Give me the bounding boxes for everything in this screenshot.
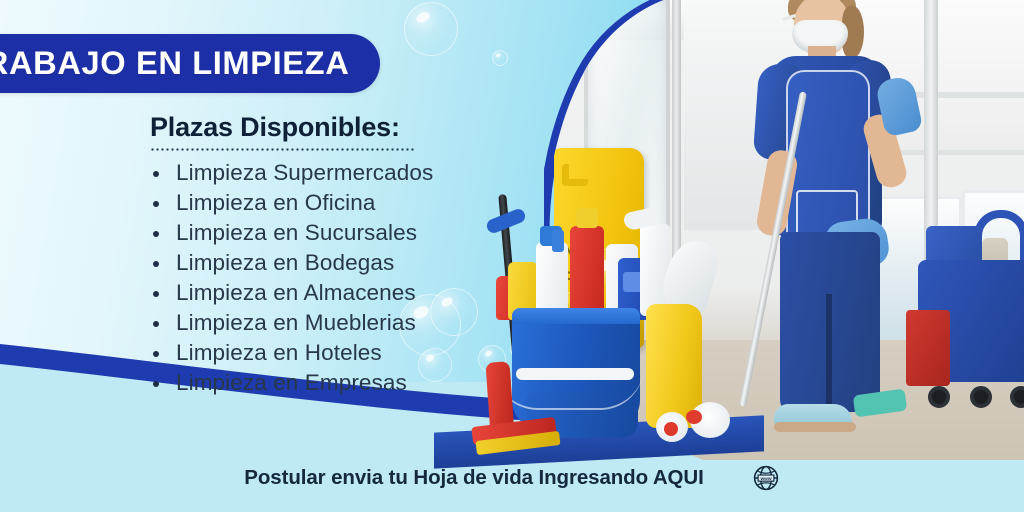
list-item: Limpieza en Sucursales (150, 218, 433, 248)
header-banner-title: TRABAJO EN LIMPIEZA (0, 45, 350, 82)
list-item-label: Limpieza en Empresas (176, 370, 407, 395)
list-item-label: Limpieza Supermercados (176, 160, 433, 185)
www-globe-icon[interactable]: www (752, 464, 780, 492)
bullet-icon (153, 351, 159, 357)
list-item-label: Limpieza en Oficina (176, 190, 376, 215)
list-item-label: Limpieza en Bodegas (176, 250, 394, 275)
list-item: Limpieza en Bodegas (150, 248, 433, 278)
bullet-icon (153, 201, 159, 207)
bullet-icon (153, 291, 159, 297)
list-item: Limpieza Supermercados (150, 158, 433, 188)
poster-canvas: N R (0, 0, 1024, 512)
footer-cta[interactable]: Postular envia tu Hoja de vida Ingresand… (0, 464, 1024, 492)
mop-cart (912, 218, 1024, 428)
list-item: Limpieza en Almacenes (150, 278, 433, 308)
list-item: Limpieza en Hoteles (150, 338, 433, 368)
list-item-label: Limpieza en Almacenes (176, 280, 416, 305)
bullet-icon (153, 171, 159, 177)
list-item-label: Limpieza en Mueblerias (176, 310, 416, 335)
list-heading: Plazas Disponibles: (150, 112, 400, 147)
bullet-icon (153, 231, 159, 237)
header-banner: TRABAJO EN LIMPIEZA (0, 34, 380, 93)
bullet-icon (153, 321, 159, 327)
job-list: Limpieza Supermercados Limpieza en Ofici… (150, 158, 433, 398)
cta-text[interactable]: Postular envia tu Hoja de vida Ingresand… (244, 466, 703, 490)
list-item: Limpieza en Oficina (150, 188, 433, 218)
soap-bubble (404, 2, 458, 56)
cleaning-supplies-cluster (470, 196, 770, 446)
list-item-label: Limpieza en Sucursales (176, 220, 417, 245)
bullet-icon (153, 261, 159, 267)
job-list-block: Plazas Disponibles: Limpieza Supermercad… (150, 112, 433, 398)
heading-dotted-underline (150, 148, 414, 151)
list-item: Limpieza en Empresas (150, 368, 433, 398)
soap-bubble (492, 50, 508, 66)
list-item: Limpieza en Mueblerias (150, 308, 433, 338)
bullet-icon (153, 381, 159, 387)
svg-text:www: www (759, 477, 771, 482)
list-item-label: Limpieza en Hoteles (176, 340, 382, 365)
